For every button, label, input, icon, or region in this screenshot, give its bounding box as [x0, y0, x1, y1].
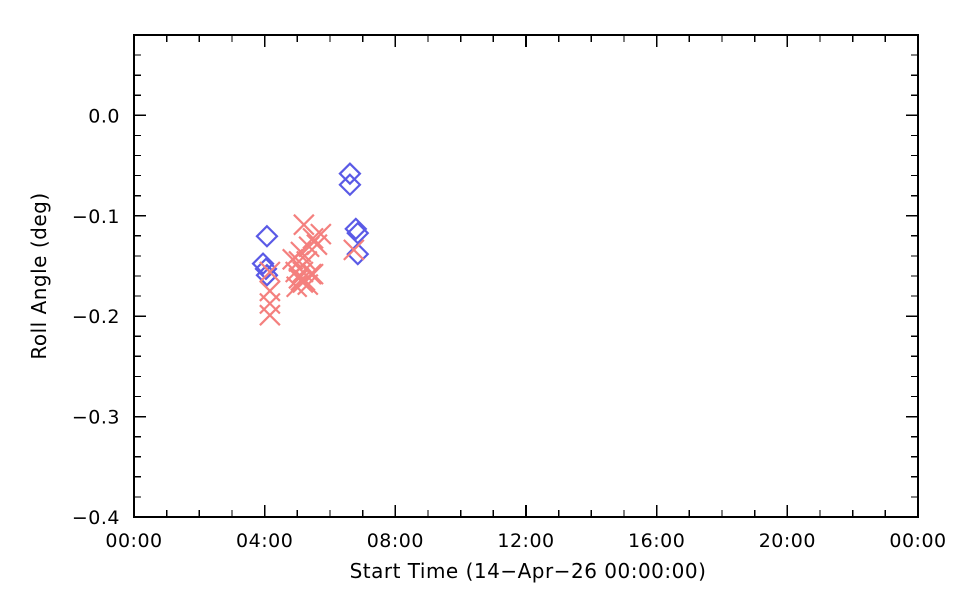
x-axis-tick-labels: 00:0004:0008:0012:0016:0020:0000:00 — [105, 530, 946, 552]
x-tick-label: 20:00 — [759, 530, 816, 552]
plot-svg: 00:0004:0008:0012:0016:0020:0000:00 0.0−… — [0, 0, 960, 600]
x-tick-label: 00:00 — [105, 530, 162, 552]
y-tick-label: −0.3 — [72, 407, 120, 429]
y-tick-label: −0.4 — [72, 507, 120, 529]
y-tick-label: −0.2 — [72, 306, 120, 328]
x-tick-label: 00:00 — [889, 530, 946, 552]
x-axis-title: Start Time (14−Apr−26 00:00:00) — [350, 559, 707, 583]
y-tick-label: −0.1 — [72, 206, 120, 228]
data-point-cross — [260, 294, 280, 314]
x-tick-label: 08:00 — [367, 530, 424, 552]
data-point-cross — [344, 240, 364, 260]
y-axis-ticks — [134, 35, 918, 517]
series-blue-diamonds — [253, 164, 368, 286]
y-tick-label: 0.0 — [88, 105, 120, 127]
x-axis-ticks — [134, 35, 918, 517]
data-point-cross — [260, 305, 280, 325]
y-axis-title: Roll Angle (deg) — [27, 192, 51, 359]
x-tick-label: 12:00 — [497, 530, 554, 552]
x-tick-label: 04:00 — [236, 530, 293, 552]
data-point-diamond — [257, 226, 277, 246]
y-axis-tick-labels: 0.0−0.1−0.2−0.3−0.4 — [72, 105, 120, 529]
axis-frame — [134, 35, 918, 517]
data-point-cross — [303, 228, 323, 248]
x-tick-label: 16:00 — [628, 530, 685, 552]
scatter-plot-canvas: 00:0004:0008:0012:0016:0020:0000:00 0.0−… — [0, 0, 960, 600]
data-markers-layer — [253, 164, 368, 325]
